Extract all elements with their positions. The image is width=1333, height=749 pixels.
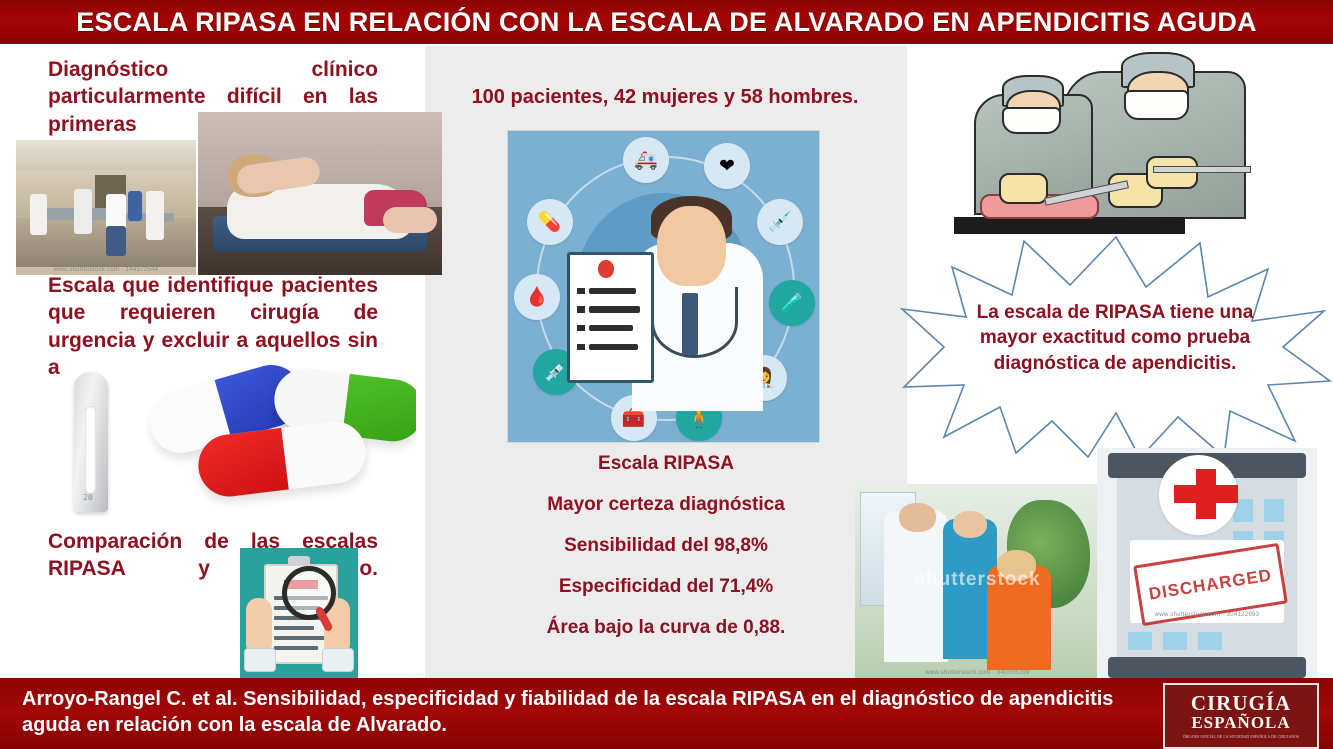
emergency-room-photo: www.shutterstock.com · 144372544 [16, 140, 196, 275]
stat-line-4: Especificidad del 71,4% [440, 575, 892, 600]
magnifier-icon [282, 566, 336, 620]
syringe-vial-icon: 💉 [757, 199, 803, 245]
stat-line-5: Área bajo la curva de 0,88. [440, 616, 892, 641]
logo-line-1: CIRUGÍA [1191, 693, 1291, 714]
image-watermark: www.shutterstock.com · 304122993 [1097, 612, 1317, 618]
citation-text: Arroyo-Rangel C. et al. Sensibilidad, es… [22, 686, 1152, 739]
poster-header: ESCALA RIPASA EN RELACIÓN CON LA ESCALA … [0, 0, 1333, 44]
stat-line-2: Mayor certeza diagnóstica [440, 493, 892, 518]
abdominal-pain-patient-photo [198, 112, 442, 275]
patients-count-line: 100 pacientes, 42 mujeres y 58 hombres. [455, 84, 875, 110]
surgeons-operating-illustration [948, 48, 1268, 238]
poster-root: ESCALA RIPASA EN RELACIÓN CON LA ESCALA … [0, 0, 1333, 749]
stat-line-3: Sensibilidad del 98,8% [440, 534, 892, 559]
stat-line-1: Escala RIPASA [440, 452, 892, 477]
doctor-with-checklist-illustration: 🚑 ❤ 💉 🧪 👩‍⚕️ 🧍 🧰 💉 🩸 💊 [507, 130, 820, 443]
journal-logo: CIRUGÍA ESPAÑOLA ÓRGANO OFICIAL DE LA SO… [1163, 683, 1319, 749]
logo-line-2: ESPAÑOLA [1191, 714, 1290, 733]
scalpel-and-pills-photo: 20 [60, 358, 416, 526]
page-title: ESCALA RIPASA EN RELACIÓN CON LA ESCALA … [76, 7, 1256, 38]
image-watermark: www.shutterstock.com · 340055399 [855, 670, 1100, 676]
flask-icon: 🧪 [769, 280, 815, 326]
blade-number: 20 [83, 493, 93, 502]
clipboard-magnifier-illustration [240, 548, 358, 678]
logo-subtitle: ÓRGANO OFICIAL DE LA SOCIEDAD ESPAÑOLA D… [1183, 735, 1299, 739]
shutterstock-watermark-text: shutterstock [855, 569, 1100, 591]
hospital-discharge-illustration: DISCHARGED www.shutterstock.com · 304122… [1097, 448, 1317, 678]
doctor-nurse-patient-photo: shutterstock www.shutterstock.com · 3400… [855, 484, 1100, 678]
burst-text: La escala de RIPASA tiene una mayor exac… [955, 300, 1275, 376]
poster-footer: Arroyo-Rangel C. et al. Sensibilidad, es… [0, 678, 1333, 749]
ambulance-icon: 🚑 [623, 137, 669, 183]
medicine-bottle-icon: 💊 [527, 199, 573, 245]
scalpel-blade-icon: 20 [74, 372, 108, 512]
blood-bag-icon: 🩸 [514, 274, 560, 320]
